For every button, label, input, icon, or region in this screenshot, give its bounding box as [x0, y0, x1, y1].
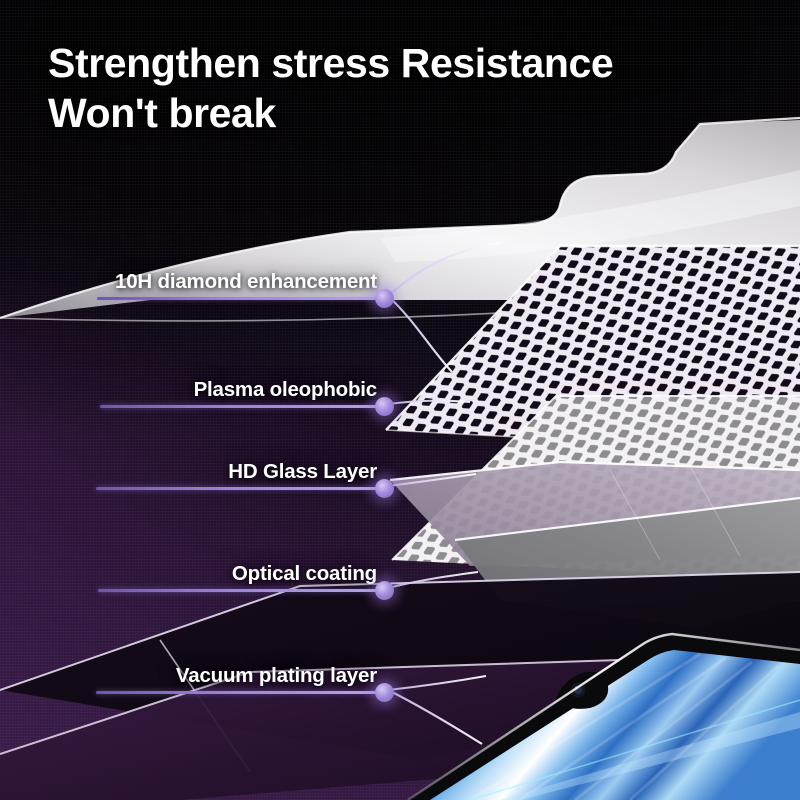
marker-dot-icon[interactable] — [375, 479, 394, 498]
callout-diamond-enhancement[interactable]: 10H diamond enhancement — [97, 250, 385, 306]
callout-vacuum-plating-layer[interactable]: Vacuum plating layer — [96, 644, 385, 700]
callout-underline — [96, 691, 385, 694]
callout-plasma-oleophobic[interactable]: Plasma oleophobic — [100, 358, 385, 414]
product-infographic: Strengthen stress Resistance Won't break… — [0, 0, 800, 800]
callout-label: Plasma oleophobic — [194, 378, 377, 402]
callout-label: 10H diamond enhancement — [115, 270, 377, 294]
callout-optical-coating[interactable]: Optical coating — [98, 542, 385, 598]
callout-underline — [97, 297, 385, 300]
callout-label: HD Glass Layer — [228, 460, 377, 484]
callout-label: Optical coating — [232, 562, 377, 586]
callout-underline — [96, 487, 385, 490]
callout-hd-glass-layer[interactable]: HD Glass Layer — [96, 440, 385, 496]
marker-dot-icon[interactable] — [375, 581, 394, 600]
callout-underline — [100, 405, 385, 408]
marker-dot-icon[interactable] — [375, 683, 394, 702]
callout-group: 10H diamond enhancement Plasma oleophobi… — [0, 0, 800, 800]
marker-dot-icon[interactable] — [375, 397, 394, 416]
marker-dot-icon[interactable] — [375, 289, 394, 308]
callout-underline — [98, 589, 385, 592]
callout-label: Vacuum plating layer — [176, 664, 377, 688]
